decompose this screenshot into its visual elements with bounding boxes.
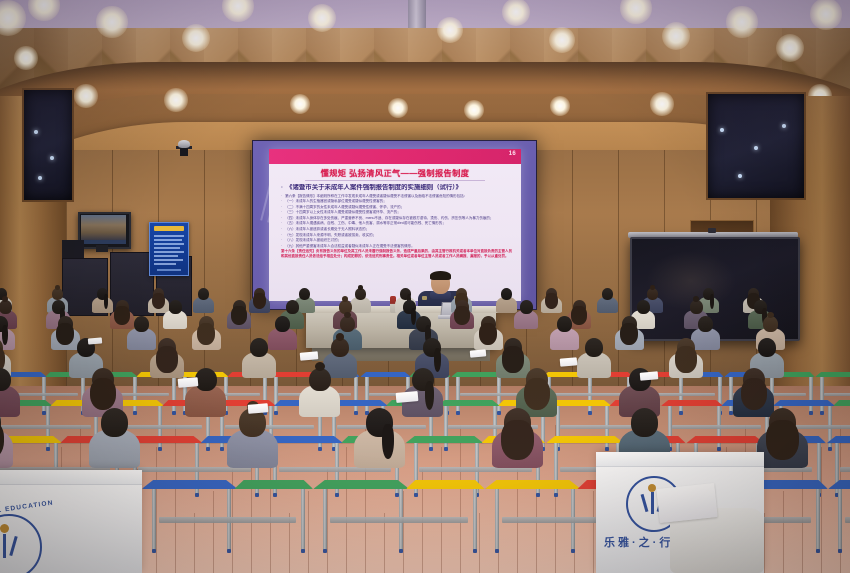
- audience-member: [185, 368, 226, 423]
- person-head: [763, 316, 778, 332]
- bullet-dot: ·: [281, 244, 282, 248]
- desk-top: [833, 400, 850, 406]
- person-head: [585, 338, 603, 357]
- person-head: [0, 300, 12, 314]
- person-head: [198, 288, 209, 300]
- bullet-dot: ·: [281, 210, 282, 214]
- ceiling-downlight: [810, 0, 841, 30]
- person-head: [250, 338, 268, 357]
- officer-hair: [430, 271, 451, 280]
- bullet-dot: ·: [281, 199, 282, 203]
- desk-leg: [838, 489, 842, 550]
- audience-member: [242, 338, 276, 383]
- slide-main-bullet: · 《诸暨市关于未成年人案件强制报告制度的实施细则（试行）》: [281, 184, 513, 192]
- ptz-camera-icon: [176, 140, 192, 149]
- audience-member: [0, 408, 13, 476]
- slide-body: · 《诸暨市关于未成年人案件强制报告制度的实施细则（试行）》 · 第六条【报告情…: [281, 184, 513, 259]
- person-long-hair: [231, 306, 247, 325]
- audience-member: [550, 316, 579, 354]
- person-head: [602, 288, 613, 300]
- bullet-dot: ·: [281, 221, 282, 225]
- bullet-dot: ·: [281, 216, 282, 220]
- student-desk: [828, 480, 850, 550]
- person-head: [355, 288, 366, 300]
- audience-member: [615, 316, 644, 354]
- desk-leg: [495, 489, 499, 550]
- desk-shelf: [840, 467, 850, 472]
- desk-leg: [473, 489, 477, 550]
- desk-top: [405, 436, 484, 443]
- slide-item: ·（六）未成年人被遗弃或者长期处于无人照料状态的；: [281, 227, 513, 231]
- desk-shelf: [1, 425, 90, 429]
- bullet-dot: ·: [281, 238, 282, 242]
- ceiling-downlight: [96, 6, 127, 37]
- audience-member: [450, 300, 474, 332]
- bullet-dot: ·: [281, 184, 283, 192]
- desk-leg: [152, 489, 156, 550]
- notebook: [88, 337, 102, 344]
- person-head: [101, 408, 128, 437]
- slide-item-list: ·（一）未成年人的生殖器官或隐私部位遭受或疑似遭受性侵害的；·（二）不满十四周岁…: [281, 199, 513, 248]
- person-ponytail: [425, 381, 434, 410]
- open-notebook: [656, 483, 717, 523]
- person-long-hair: [454, 306, 470, 325]
- person-long-hair: [479, 323, 497, 345]
- person-head: [195, 368, 217, 391]
- person-head: [557, 316, 572, 332]
- bullet-dot: ·: [281, 233, 282, 237]
- audience-member: [492, 408, 543, 476]
- audience-member: [163, 300, 187, 332]
- slide-item: ·（四）未成年人身体存在多处伤痕、严重营养不良、menu不适、存在或疑似存在被殴…: [281, 216, 513, 220]
- person-long-hair: [156, 346, 178, 373]
- person-ponytail: [382, 424, 393, 460]
- slide-header-band: [269, 149, 521, 164]
- slide-item: ·（九）其他严重侵害未成年人合法权益或者疑似未成年人正在遭受不法侵害的情形。: [281, 244, 513, 248]
- person-head: [309, 368, 331, 391]
- audience-member: [227, 408, 278, 476]
- audience-member: [354, 408, 405, 476]
- desk-top: [234, 480, 313, 489]
- slide-highlight-block: 第十六条【责任追究】负有报告义务的单位及其工作人员未履行强制报告义务，造成严重后…: [281, 249, 513, 258]
- person-hair-bun: [650, 285, 655, 290]
- person-head: [275, 316, 290, 332]
- desk-top: [485, 480, 581, 489]
- school-logo-icon: [0, 514, 42, 573]
- person-long-hair: [620, 323, 638, 345]
- notebook: [560, 357, 578, 366]
- audience-member: [249, 288, 270, 316]
- ceiling-downlight: [14, 46, 37, 69]
- person-hair-bun: [55, 285, 60, 290]
- slide-item: ·（八）发现未成年人被组织乞讨的；: [281, 238, 513, 242]
- audience-member: [514, 300, 538, 332]
- audience-member: [299, 368, 340, 423]
- person-head: [520, 300, 533, 314]
- person-hair-bun: [358, 285, 363, 290]
- notebook: [300, 351, 319, 361]
- person-head: [169, 300, 182, 314]
- slide-title-underline: [305, 180, 485, 181]
- audience-member: [577, 338, 611, 383]
- person-hair-bun: [336, 333, 344, 341]
- bullet-dot: ·: [281, 194, 282, 198]
- ceiling-downlight: [549, 27, 575, 53]
- poster-footer: [157, 269, 181, 271]
- bullet-dot: ·: [281, 227, 282, 231]
- chair-cover-fold: [0, 470, 142, 485]
- audience-member: [193, 288, 214, 316]
- student-desk: [313, 480, 485, 550]
- desk-shelf: [330, 517, 467, 523]
- person-head: [647, 288, 658, 300]
- desk-top: [142, 480, 238, 489]
- audience-member: [227, 300, 251, 332]
- desk-shelf: [672, 425, 761, 429]
- school-logo-dot: [0, 524, 9, 533]
- person-head: [631, 408, 658, 437]
- notebook: [178, 377, 199, 388]
- wall-notice-poster: [149, 222, 189, 276]
- student-desk: [142, 480, 314, 550]
- slide-intro-line: · 第六条【报告情形】本细则所称在工作中发现未成年人遭受或者疑似遭受不法侵害以及…: [281, 194, 513, 198]
- desk-leg: [816, 489, 820, 550]
- presentation-slide: 16 懂规矩 弘扬清风正气——强制报告制度 · 《诸暨市关于未成年人案件强制报告…: [269, 149, 521, 301]
- person-head: [340, 316, 355, 332]
- person-long-hair: [741, 378, 767, 410]
- ceiling-downlight: [74, 84, 97, 107]
- desk-shelf: [824, 393, 850, 396]
- person-long-hair: [90, 378, 116, 410]
- tv-camera-icon: [708, 228, 716, 233]
- poster-header-bar: [154, 226, 184, 231]
- right-dark-window: [706, 92, 806, 200]
- person-head: [637, 300, 650, 314]
- desk-top: [406, 480, 485, 489]
- desk-leg: [323, 489, 327, 550]
- desk-top: [313, 480, 409, 489]
- notebook: [640, 371, 659, 381]
- audience-member: [669, 338, 703, 383]
- person-hair-bun: [767, 312, 774, 318]
- person-long-hair: [524, 378, 550, 410]
- slide-item: ·（一）未成年人的生殖器官或隐私部位遭受或疑似遭受性侵害的；: [281, 199, 513, 203]
- person-head: [299, 288, 310, 300]
- ceiling-downlight: [437, 17, 463, 43]
- bullet-dot: ·: [281, 205, 282, 209]
- audience-member: [150, 338, 184, 383]
- desk-top: [686, 436, 765, 443]
- audience-member: [89, 408, 140, 476]
- desk-shelf: [551, 393, 624, 396]
- chair-cover-fold: [596, 452, 764, 467]
- slide-number: 16: [509, 151, 516, 157]
- slide-item: ·（二）不满十四周岁的女性未成年人遭受或疑似遭受性侵害、怀孕、流产的；: [281, 205, 513, 209]
- person-long-hair: [766, 420, 798, 460]
- person-head: [134, 316, 149, 332]
- audience-member: [541, 288, 562, 316]
- monitor-stand: [96, 245, 108, 252]
- desk-shelf: [159, 517, 296, 523]
- slide-item: ·（五）未成年人遭遇疾病、自残、工伤、中毒、他人伤害、溺水等非正常died或可能…: [281, 221, 513, 225]
- person-long-hair: [675, 346, 697, 373]
- person-head: [331, 338, 349, 357]
- person-head: [758, 338, 776, 357]
- notebook: [470, 349, 487, 357]
- notebook: [396, 391, 419, 403]
- ceiling-downlight: [726, 6, 757, 37]
- slide-title: 懂规矩 弘扬清风正气——强制报告制度: [269, 167, 521, 179]
- ceiling-downlight: [164, 88, 187, 111]
- person-head: [501, 288, 512, 300]
- left-dark-window: [22, 88, 74, 202]
- desk-top: [546, 436, 625, 443]
- projection-screen: 16 懂规矩 弘扬清风正气——强制报告制度 · 《诸暨市关于未成年人案件强制报告…: [252, 140, 537, 310]
- equipment-rack: [62, 240, 84, 258]
- slide-item: ·（三）十四周岁以上女性未成年人遭受或疑似遭受性侵害或怀孕、流产的；: [281, 210, 513, 214]
- desk-leg: [301, 489, 305, 550]
- person-head: [52, 288, 63, 300]
- desk-top: [826, 436, 850, 443]
- person-head: [690, 300, 703, 314]
- chair-cover-left: IAL EDUCATION: [0, 470, 142, 573]
- audience-member: [757, 408, 808, 476]
- person-hair-bun: [344, 312, 351, 318]
- school-logo-dot: [648, 484, 656, 492]
- desk-shelf: [845, 517, 850, 523]
- person-long-hair: [197, 323, 215, 345]
- person-long-hair: [501, 420, 533, 460]
- side-monitor: [78, 212, 131, 249]
- audience-member: [192, 316, 221, 354]
- slide-item: ·（七）发现未成年人来源不明、失踪或者被拐卖、收买的；: [281, 233, 513, 237]
- audience-member: [597, 288, 618, 316]
- ceiling-downlight: [650, 92, 673, 115]
- notebook: [248, 403, 269, 414]
- desk-top: [828, 480, 850, 489]
- chair-cover-right: 乐雅·之·行·慧: [596, 452, 764, 573]
- person-head: [698, 316, 713, 332]
- person-head: [286, 300, 299, 314]
- lecture-hall-photo: 16 懂规矩 弘扬清风正气——强制报告制度 · 《诸暨市关于未成年人案件强制报告…: [0, 0, 850, 573]
